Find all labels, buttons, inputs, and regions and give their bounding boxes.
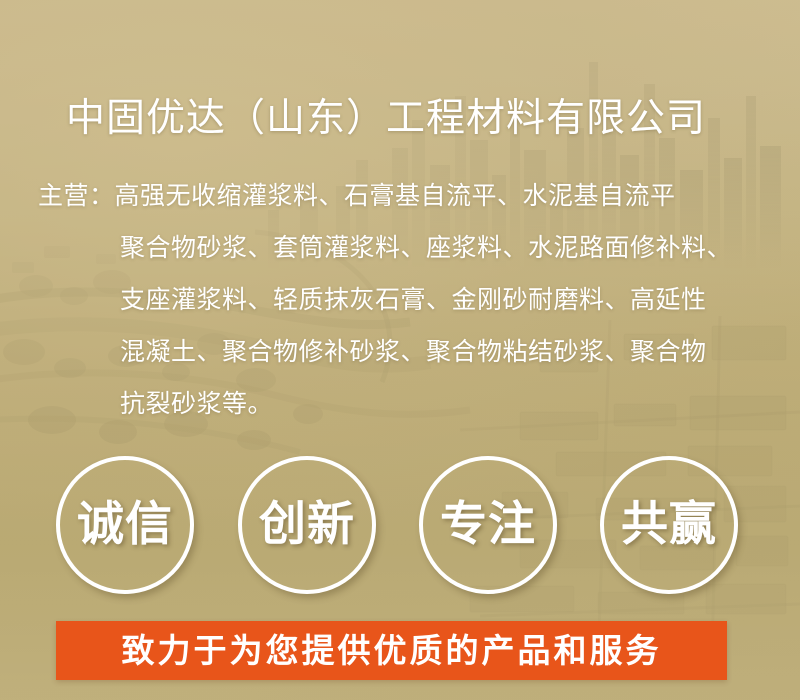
value-badge-innovation: 创新: [238, 456, 376, 594]
value-badge-win-win: 共赢: [600, 456, 738, 594]
core-values-row: 诚信 创新 专注 共赢: [56, 456, 746, 598]
scope-line: 混凝土、聚合物修补砂浆、聚合物粘结砂浆、聚合物: [38, 326, 798, 378]
value-badge-label: 共赢: [621, 500, 717, 550]
company-title: 中固优达（山东）工程材料有限公司: [66, 96, 706, 142]
scope-line: 支座灌浆料、轻质抹灰石膏、金刚砂耐磨料、高延性: [38, 274, 798, 326]
value-badge-label: 专注: [440, 500, 536, 550]
scope-line: 抗裂砂浆等。: [38, 378, 798, 430]
scope-line: 主营：高强无收缩灌浆料、石膏基自流平、水泥基自流平: [38, 170, 798, 222]
scope-line: 聚合物砂浆、套筒灌浆料、座浆料、水泥路面修补料、: [38, 222, 798, 274]
business-scope-block: 主营：高强无收缩灌浆料、石膏基自流平、水泥基自流平 聚合物砂浆、套筒灌浆料、座浆…: [38, 170, 798, 430]
value-badge-label: 创新: [259, 500, 355, 550]
slogan-bar: 致力于为您提供优质的产品和服务: [56, 621, 727, 680]
slogan-text: 致力于为您提供优质的产品和服务: [122, 632, 662, 670]
value-badge-focus: 专注: [419, 456, 557, 594]
value-badge-label: 诚信: [77, 500, 173, 550]
promo-banner: 中固优达（山东）工程材料有限公司 主营：高强无收缩灌浆料、石膏基自流平、水泥基自…: [0, 0, 800, 700]
value-badge-integrity: 诚信: [56, 456, 194, 594]
